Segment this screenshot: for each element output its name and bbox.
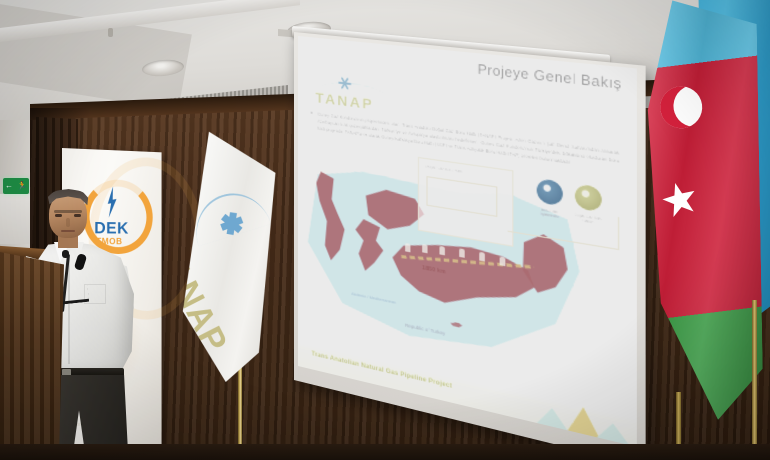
flag-pole xyxy=(752,300,757,460)
pipeline-marker-icon xyxy=(422,244,427,253)
pipeline-marker-icon xyxy=(459,248,465,258)
connector-vertical xyxy=(618,217,619,250)
exit-arrow-icon: ← xyxy=(5,182,13,190)
floor xyxy=(0,444,770,460)
lectern xyxy=(0,252,64,460)
lapel-microphone-icon xyxy=(62,250,69,258)
pipeline-marker-icon xyxy=(405,243,410,252)
callout-inner-frame xyxy=(426,176,497,217)
tanap-snowflake-icon xyxy=(337,74,352,91)
botas-logo-caption: Doğal Gaz Boru Hatları xyxy=(571,212,605,227)
pipeline-marker-icon xyxy=(479,252,485,262)
speaker-eye-left xyxy=(55,214,62,217)
running-person-icon: 🏃 xyxy=(17,182,27,190)
presentation-photo: ← 🏃 Projeye Genel Bakış TANAP Güney Gaz … xyxy=(0,0,770,460)
callout-heading: Doğal Gaz Boru Hattı xyxy=(425,164,462,174)
slide-bullet-marker xyxy=(311,112,313,114)
pipeline-marker-icon xyxy=(439,246,444,255)
eight-pointed-star-icon xyxy=(658,178,702,222)
crescent-icon xyxy=(655,81,708,134)
botas-logo-icon xyxy=(575,184,602,213)
callout-connector xyxy=(618,217,619,218)
pipeline-marker-icon xyxy=(500,256,506,266)
socar-logo-icon xyxy=(537,178,563,206)
speaker-mouth xyxy=(61,230,75,232)
slide-title: Projeye Genel Bakış xyxy=(477,62,621,92)
speaker-nose xyxy=(66,218,70,227)
sprinkler-icon xyxy=(108,28,113,37)
speaker-eye-right xyxy=(74,214,81,217)
belt-buckle-icon xyxy=(62,369,71,376)
socar-logo-caption: Boru Hattı İşletmecisi xyxy=(533,206,566,221)
projection-screen: Projeye Genel Bakış TANAP Güney Gaz Kori… xyxy=(292,24,622,374)
speaker-brow xyxy=(54,210,82,213)
